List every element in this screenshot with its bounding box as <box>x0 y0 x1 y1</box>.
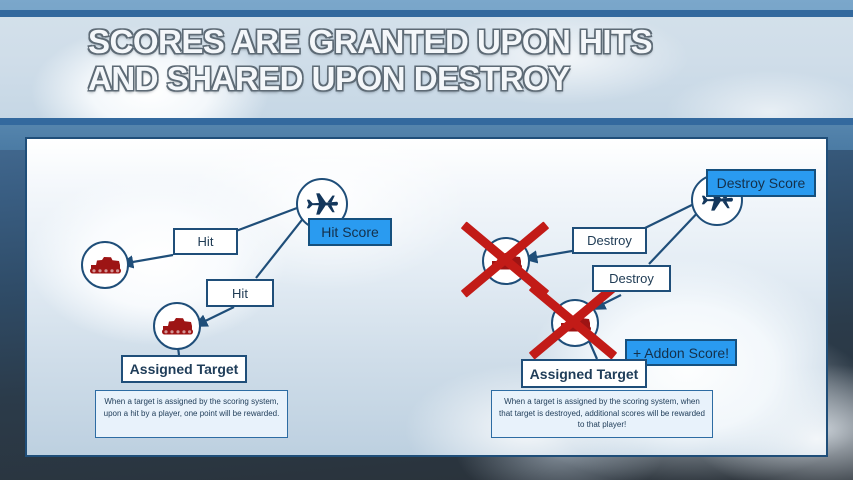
tank-icon <box>89 255 122 275</box>
diagram-canvas: Hit Hit Hit Score Assigned Target When a… <box>27 139 826 455</box>
badge-hit-score[interactable]: Hit Score <box>308 218 392 246</box>
caption-left: When a target is assigned by the scoring… <box>95 390 288 438</box>
badge-destroy-score[interactable]: Destroy Score <box>706 169 816 197</box>
caption-right: When a target is assigned by the scoring… <box>491 390 713 438</box>
edge-label-hit-2[interactable]: Hit <box>206 279 274 307</box>
slide-root: SCORES ARE GRANTED UPON HITS AND SHARED … <box>0 0 853 480</box>
edge-label-destroy-1[interactable]: Destroy <box>572 227 647 254</box>
diagram-panel: Hit Hit Hit Score Assigned Target When a… <box>25 137 828 457</box>
edge-label-hit-1[interactable]: Hit <box>173 228 238 255</box>
edge-label-destroy-2[interactable]: Destroy <box>592 265 671 292</box>
node-assigned-target-left[interactable] <box>153 302 201 350</box>
callout-assigned-target-right[interactable]: Assigned Target <box>521 359 647 388</box>
callout-assigned-target-left[interactable]: Assigned Target <box>121 355 247 383</box>
fighter-jet-icon <box>305 190 339 218</box>
page-title: SCORES ARE GRANTED UPON HITS AND SHARED … <box>88 24 652 98</box>
node-target-left-top[interactable] <box>81 241 129 289</box>
tank-icon <box>161 316 194 336</box>
